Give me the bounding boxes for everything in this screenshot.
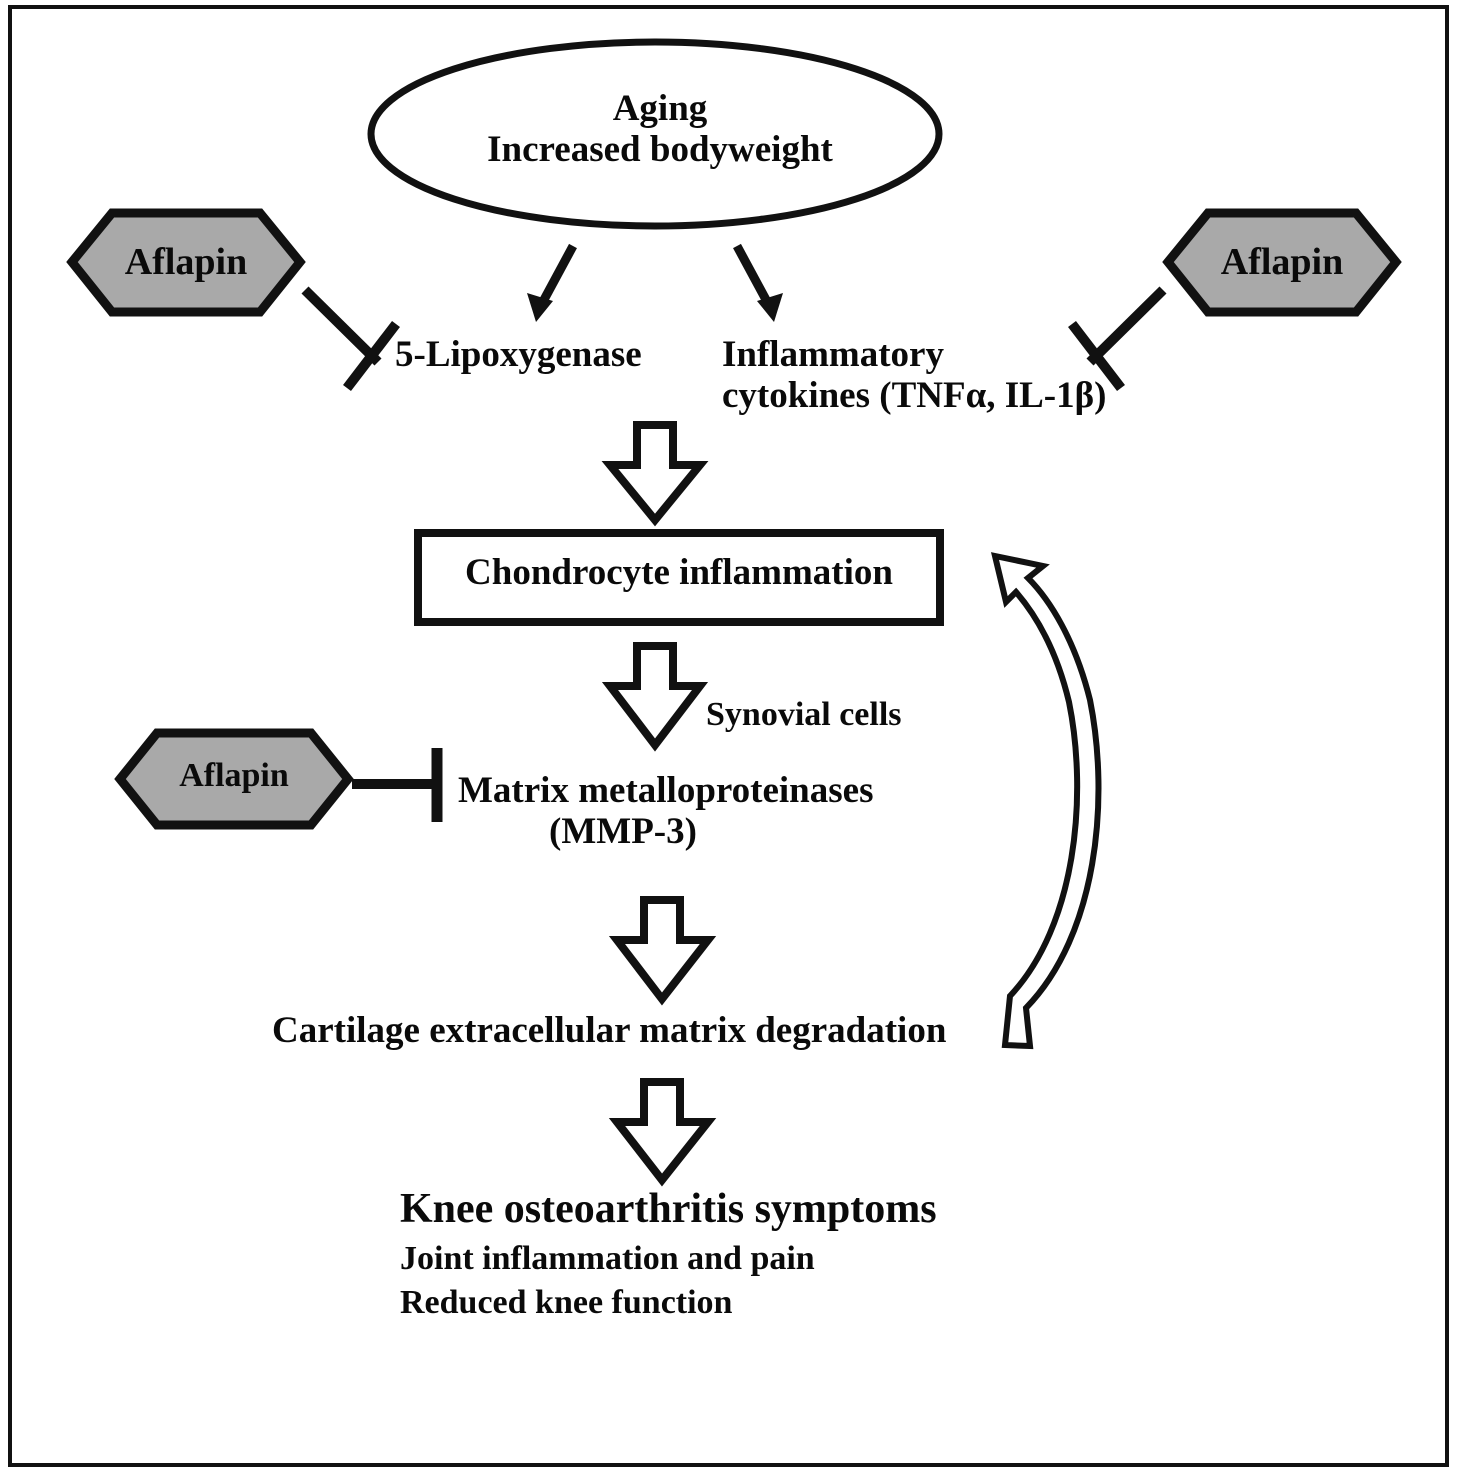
cytokines-label: Inflammatory cytokines (TNFα, IL-1β) — [722, 334, 1182, 417]
figure-canvas: Aging Increased bodyweight Aflapin Aflap… — [0, 0, 1459, 1476]
mmp-line-1: Matrix metalloproteinases — [458, 770, 873, 811]
aging-line-1: Aging — [613, 88, 708, 129]
block-arrow-to-cartilage — [617, 900, 708, 999]
mmp-line-2: (MMP-3) — [458, 811, 788, 852]
aging-line-2: Increased bodyweight — [370, 129, 950, 170]
cytokines-line-1: Inflammatory — [722, 334, 944, 375]
arrow-ellipse-to-cytokines — [737, 246, 783, 322]
aging-ellipse-label: Aging Increased bodyweight — [370, 88, 950, 171]
chondrocyte-inflammation-label: Chondrocyte inflammation — [418, 552, 940, 593]
inhibition-aflapin-left — [305, 290, 396, 388]
mmp-label: Matrix metalloproteinases (MMP-3) — [458, 770, 928, 853]
aflapin-label-right: Aflapin — [1168, 240, 1396, 284]
cytokines-line-2: cytokines (TNFα, IL-1β) — [722, 375, 1182, 416]
symptoms-title: Knee osteoarthritis symptoms — [400, 1186, 937, 1233]
curved-feedback-arrow — [995, 556, 1098, 1046]
cartilage-degradation-label: Cartilage extracellular matrix degradati… — [272, 1010, 946, 1051]
inhibition-aflapin-middle — [352, 748, 437, 822]
symptoms-line-1: Joint inflammation and pain — [400, 1240, 815, 1278]
aflapin-label-left: Aflapin — [72, 240, 300, 284]
lipoxygenase-label: 5-Lipoxygenase — [395, 334, 642, 375]
block-arrow-to-symptoms — [617, 1082, 708, 1180]
block-arrow-to-mmp — [610, 646, 700, 745]
aflapin-label-middle: Aflapin — [120, 757, 348, 795]
symptoms-line-2: Reduced knee function — [400, 1284, 732, 1322]
arrow-ellipse-to-lipoxygenase — [527, 246, 573, 322]
synovial-cells-label: Synovial cells — [706, 696, 902, 734]
block-arrow-to-chondrocyte — [610, 425, 700, 520]
